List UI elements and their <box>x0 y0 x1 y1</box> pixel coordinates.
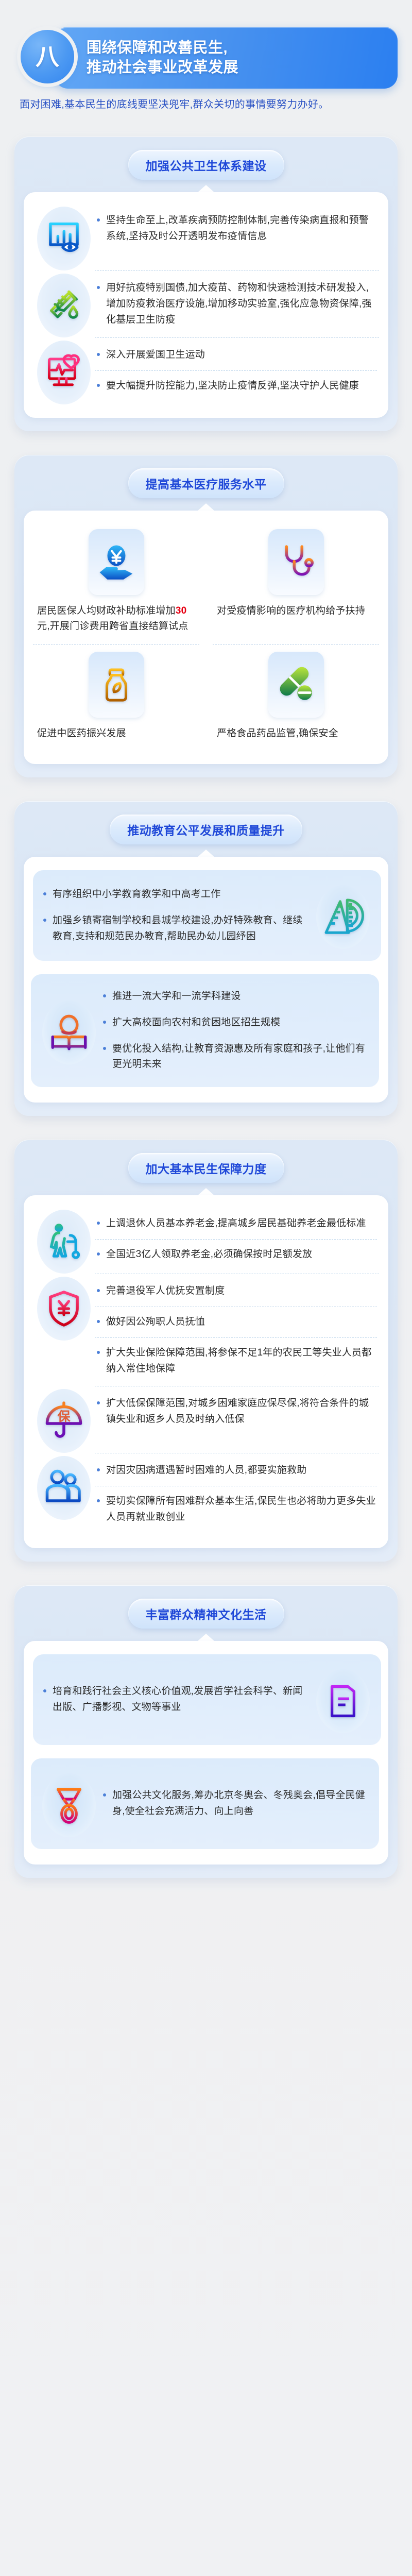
bullet-list: 对因灾因病遭遇暂时困难的人员,都要实施救助要切实保障所有困难群众基本生活,保民生… <box>95 1453 379 1534</box>
bullet-text: 要优化投入结构,让教育资源惠及所有家庭和孩子,让他们有更光明未来 <box>112 1041 371 1073</box>
bullet-list: 培育和践行社会主义核心价值观,发展哲学社会科学、新闻出版、广播影视、文物等事业 <box>40 1679 312 1721</box>
grid-card: 严格食品药品监管,确保安全 <box>213 644 379 751</box>
bullet-item: 用好抗疫特别国债,加大疫苗、药物和快速检测技术研发投入,增加防疫救治医疗设施,增… <box>95 273 377 335</box>
section-title-pill: 加强公共卫生体系建设 <box>128 150 284 180</box>
grid-card: 居民医保人均财政补助标准增加30元,开展门诊费用跨省直接结算试点 <box>33 522 199 644</box>
row-icon-slot <box>33 1274 95 1341</box>
bullet-item: 深入开展爱国卫生运动 <box>95 340 377 370</box>
bullet-list: 完善退役军人优抚安置制度做好因公殉职人员抚恤扩大失业保险保障范围,将参保不足1年… <box>95 1274 379 1386</box>
bullet-item: 加强乡镇寄宿制学校和县城学校建设,办好特殊教育、继续教育,支持和规范民办教育,帮… <box>40 908 312 950</box>
bullet-item: 完善退役军人优抚安置制度 <box>95 1276 377 1307</box>
card-grid: 居民医保人均财政补助标准增加30元,开展门诊费用跨省直接结算试点 对受疫情影响的… <box>33 522 379 751</box>
section-title-pill: 加大基本民生保障力度 <box>128 1153 284 1183</box>
bullet-dot-icon <box>103 1793 106 1797</box>
section-body: 居民医保人均财政补助标准增加30元,开展门诊费用跨省直接结算试点 对受疫情影响的… <box>24 511 388 764</box>
bullet-list: 扩大低保保障范围,对城乡困难家庭应保尽保,将符合条件的城镇失业和返乡人员及时纳入… <box>95 1386 379 1437</box>
section-title-pill: 丰富群众精神文化生活 <box>128 1599 284 1629</box>
content-section: 提高基本医疗服务水平 居民医保人均财政补助标准增加30元,开展门诊费用跨省直接结… <box>14 455 398 777</box>
bullet-dot-icon <box>43 892 46 895</box>
bullet-list: 上调退休人员基本养老金,提高城乡居民基础养老金最低标准全国近3亿人领取养老金,必… <box>95 1207 379 1272</box>
card-text-after: 元,开展门诊费用跨省直接结算试点 <box>37 621 188 632</box>
row-icon-slot <box>33 1207 95 1274</box>
bullet-text: 有序组织中小学教育教学和中高考工作 <box>53 887 220 903</box>
bullet-list: 用好抗疫特别国债,加大疫苗、药物和快速检测技术研发投入,增加防疫救治医疗设施,增… <box>95 270 379 337</box>
bullet-dot-icon <box>97 353 100 356</box>
bullet-dot-icon <box>97 1289 100 1292</box>
list-item: 完善退役军人优抚安置制度做好因公殉职人员抚恤扩大失业保险保障范围,将参保不足1年… <box>33 1274 379 1386</box>
list-item: 上调退休人员基本养老金,提高城乡居民基础养老金最低标准全国近3亿人领取养老金,必… <box>33 1207 379 1274</box>
stethoscope-icon <box>268 529 324 595</box>
pointer-triangle-icon <box>197 850 215 857</box>
bullet-dot-icon <box>97 1499 100 1502</box>
highlight-value: 30 <box>176 605 187 616</box>
grid-card: 对受疫情影响的医疗机构给予扶持 <box>213 522 379 644</box>
two-people-icon <box>37 1456 91 1520</box>
section-title-pill: 提高基本医疗服务水平 <box>128 468 284 498</box>
section-header: 丰富群众精神文化生活 <box>24 1599 388 1629</box>
page-title-line2: 推动社会事业改革发展 <box>87 58 238 77</box>
bullet-text: 用好抗疫特别国债,加大疫苗、药物和快速检测技术研发投入,增加防疫救治医疗设施,增… <box>106 280 376 328</box>
book-document-icon <box>316 1669 370 1733</box>
bullet-item: 培育和践行社会主义核心价值观,发展哲学社会科学、新闻出版、广播影视、文物等事业 <box>40 1679 312 1721</box>
syringe-vaccine-icon <box>37 274 91 337</box>
list-item: 坚持生命至上,改革疾病预防控制体制,完善传染病直报和预警系统,坚持及时公开透明发… <box>33 204 379 270</box>
info-panel: 有序组织中小学教育教学和中高考工作加强乡镇寄宿制学校和县城学校建设,办好特殊教育… <box>33 870 381 961</box>
bullet-item: 要大幅提升防控能力,坚决防止疫情反弹,坚决守护人民健康 <box>95 370 377 401</box>
bullet-item: 推进一流大学和一流学科建设 <box>100 984 372 1010</box>
bullet-text: 加强乡镇寄宿制学校和县城学校建设,办好特殊教育、继续教育,支持和规范民办教育,帮… <box>53 913 311 945</box>
page-title-line1: 围绕保障和改善民生, <box>87 38 238 58</box>
bullet-dot-icon <box>43 919 46 922</box>
report-monitor-eye-icon <box>37 207 91 270</box>
page-title: 围绕保障和改善民生, 推动社会事业改革发展 <box>87 38 238 78</box>
row-icon-slot: 保 <box>33 1386 95 1453</box>
ruler-protractor-icon <box>316 885 370 949</box>
elderly-walker-icon <box>37 1210 91 1274</box>
bullet-dot-icon <box>103 1021 106 1024</box>
section-body: 坚持生命至上,改革疾病预防控制体制,完善传染病直报和预警系统,坚持及时公开透明发… <box>24 192 388 418</box>
infographic-page: 围绕保障和改善民生, 推动社会事业改革发展 八 面对困难,基本民生的底线要坚决兜… <box>0 0 412 2576</box>
bullet-text: 推进一流大学和一流学科建设 <box>112 989 241 1005</box>
pointer-triangle-icon <box>197 185 215 193</box>
section-header: 推动教育公平发展和质量提升 <box>24 815 388 844</box>
bullet-item: 加强公共文化服务,筹办北京冬奥会、冬残奥会,倡导全民健身,使全社会充满活力、向上… <box>100 1783 372 1825</box>
medal-icon <box>42 1773 96 1837</box>
bullet-dot-icon <box>97 1320 100 1323</box>
bullet-item: 上调退休人员基本养老金,提高城乡居民基础养老金最低标准 <box>95 1209 377 1239</box>
bullet-list: 加强公共文化服务,筹办北京冬奥会、冬残奥会,倡导全民健身,使全社会充满活力、向上… <box>100 1783 372 1825</box>
bullet-text: 完善退役军人优抚安置制度 <box>106 1283 225 1299</box>
bullet-item: 有序组织中小学教育教学和中高考工作 <box>40 882 312 908</box>
card-icon-slot <box>36 529 196 595</box>
umbrella-bao-icon: 保 <box>37 1389 91 1453</box>
panel-icon-slot <box>38 1768 100 1840</box>
card-icon-slot <box>216 529 376 595</box>
row-icon-slot <box>33 337 95 404</box>
header-banner: 围绕保障和改善民生, 推动社会事业改革发展 <box>55 27 398 89</box>
list-item: 保扩大低保保障范围,对城乡困难家庭应保尽保,将符合条件的城镇失业和返乡人员及时纳… <box>33 1386 379 1453</box>
bullet-text: 要大幅提升防控能力,坚决防止疫情反弹,坚决守护人民健康 <box>106 378 359 394</box>
bullet-dot-icon <box>103 994 106 997</box>
list-item: 对因灾因病遭遇暂时困难的人员,都要实施救助要切实保障所有困难群众基本生活,保民生… <box>33 1453 379 1534</box>
info-panel: 加强公共文化服务,筹办北京冬奥会、冬残奥会,倡导全民健身,使全社会充满活力、向上… <box>31 1758 379 1849</box>
content-section: 推动教育公平发展和质量提升有序组织中小学教育教学和中高考工作加强乡镇寄宿制学校和… <box>14 801 398 1116</box>
list-item: 深入开展爱国卫生运动要大幅提升防控能力,坚决防止疫情反弹,坚决守护人民健康 <box>33 337 379 404</box>
section-body: 培育和践行社会主义核心价值观,发展哲学社会科学、新闻出版、广播影视、文物等事业 … <box>24 1641 388 1865</box>
row-icon-slot <box>33 270 95 337</box>
panel-spacer <box>33 1747 379 1756</box>
bullet-item: 做好因公殉职人员抚恤 <box>95 1307 377 1337</box>
card-text: 严格食品药品监管,确保安全 <box>217 728 338 739</box>
bullet-list: 有序组织中小学教育教学和中高考工作加强乡镇寄宿制学校和县城学校建设,办好特殊教育… <box>40 882 312 950</box>
card-label: 促进中医药振兴发展 <box>36 726 196 741</box>
sections-container: 加强公共卫生体系建设 坚持生命至上,改革疾病预防控制体制,完善传染病直报和预警系… <box>0 137 412 1878</box>
pointer-triangle-icon <box>197 503 215 511</box>
bullet-text: 坚持生命至上,改革疾病预防控制体制,完善传染病直报和预警系统,坚持及时公开透明发… <box>106 213 376 245</box>
section-header: 加大基本民生保障力度 <box>24 1153 388 1183</box>
bullet-text: 扩大低保保障范围,对城乡困难家庭应保尽保,将符合条件的城镇失业和返乡人员及时纳入… <box>106 1396 376 1428</box>
panel-icon-slot <box>312 879 374 952</box>
card-label: 居民医保人均财政补助标准增加30元,开展门诊费用跨省直接结算试点 <box>36 603 196 635</box>
pointer-triangle-icon <box>197 1188 215 1196</box>
panel-icon-slot <box>38 995 100 1067</box>
section-body: 上调退休人员基本养老金,提高城乡居民基础养老金最低标准全国近3亿人领取养老金,必… <box>24 1195 388 1548</box>
heartbeat-monitor-icon <box>37 341 91 404</box>
bullet-text: 要切实保障所有困难群众基本生活,保民生也必将助力更多失业人员再就业敢创业 <box>106 1494 376 1526</box>
section-body: 有序组织中小学教育教学和中高考工作加强乡镇寄宿制学校和县城学校建设,办好特殊教育… <box>24 857 388 1103</box>
student-reading-book-icon <box>42 1001 96 1064</box>
bullet-item: 扩大低保保障范围,对城乡困难家庭应保尽保,将符合条件的城镇失业和返乡人员及时纳入… <box>95 1388 377 1435</box>
bullet-dot-icon <box>97 384 100 387</box>
bullet-item: 要切实保障所有困难群众基本生活,保民生也必将助力更多失业人员再就业敢创业 <box>95 1486 377 1533</box>
info-panel: 推进一流大学和一流学科建设扩大高校面向农村和贫困地区招生规模要优化投入结构,让教… <box>31 974 379 1087</box>
bullet-item: 全国近3亿人领取养老金,必须确保按时足额发放 <box>95 1239 377 1270</box>
bullet-dot-icon <box>97 1468 100 1471</box>
bullet-dot-icon <box>97 218 100 222</box>
grid-card: 促进中医药振兴发展 <box>33 644 199 751</box>
bullet-item: 坚持生命至上,改革疾病预防控制体制,完善传染病直报和预警系统,坚持及时公开透明发… <box>95 206 377 252</box>
card-icon-slot <box>216 652 376 718</box>
bullet-list: 推进一流大学和一流学科建设扩大高校面向农村和贫困地区招生规模要优化投入结构,让教… <box>100 984 372 1078</box>
content-section: 加大基本民生保障力度 上调退休人员基本养老金,提高城乡居民基础养老金最低标准全国… <box>14 1140 398 1561</box>
section-title-pill: 推动教育公平发展和质量提升 <box>110 815 302 844</box>
content-section: 丰富群众精神文化生活培育和践行社会主义核心价值观,发展哲学社会科学、新闻出版、广… <box>14 1585 398 1878</box>
card-label: 对受疫情影响的医疗机构给予扶持 <box>216 603 376 619</box>
card-text: 促进中医药振兴发展 <box>37 728 126 739</box>
pointer-triangle-icon <box>197 1634 215 1641</box>
bullet-dot-icon <box>97 1401 100 1404</box>
row-icon-slot <box>33 204 95 270</box>
section-header: 提高基本医疗服务水平 <box>24 468 388 498</box>
panel-spacer <box>33 963 379 972</box>
bullet-item: 要优化投入结构,让教育资源惠及所有家庭和孩子,让他们有更光明未来 <box>100 1036 372 1078</box>
bullet-text: 对因灾因病遭遇暂时困难的人员,都要实施救助 <box>106 1463 306 1479</box>
bullet-item: 扩大失业保险保障范围,将参保不足1年的农民工等失业人员都纳入常住地保障 <box>95 1337 377 1384</box>
bullet-text: 全国近3亿人领取养老金,必须确保按时足额发放 <box>106 1247 312 1263</box>
panel-icon-slot <box>312 1664 374 1736</box>
bullet-item: 对因灾因病遭遇暂时困难的人员,都要实施救助 <box>95 1455 377 1486</box>
bullet-text: 深入开展爱国卫生运动 <box>106 347 205 363</box>
bullet-text: 扩大高校面向农村和贫困地区招生规模 <box>112 1015 280 1031</box>
bullet-text: 培育和践行社会主义核心价值观,发展哲学社会科学、新闻出版、广播影视、文物等事业 <box>53 1684 311 1716</box>
section-number-badge-label: 八 <box>36 45 59 69</box>
row-icon-slot <box>33 1453 95 1520</box>
content-section: 加强公共卫生体系建设 坚持生命至上,改革疾病预防控制体制,完善传染病直报和预警系… <box>14 137 398 431</box>
capsule-pill-icon <box>268 652 324 718</box>
bullet-dot-icon <box>97 286 100 289</box>
bullet-dot-icon <box>97 1222 100 1225</box>
hand-yuan-subsidy-icon <box>89 529 144 595</box>
bullet-text: 做好因公殉职人员抚恤 <box>106 1314 205 1330</box>
svg-text:保: 保 <box>57 1409 71 1424</box>
bullet-list: 坚持生命至上,改革疾病预防控制体制,完善传染病直报和预警系统,坚持及时公开透明发… <box>95 204 379 254</box>
bullet-list: 深入开展爱国卫生运动要大幅提升防控能力,坚决防止疫情反弹,坚决守护人民健康 <box>95 337 379 403</box>
intro-paragraph: 面对困难,基本民生的底线要坚决兜牢,群众关切的事情要努力办好。 <box>20 97 398 113</box>
shield-yuan-icon <box>37 1277 91 1341</box>
card-text: 对受疫情影响的医疗机构给予扶持 <box>217 605 365 616</box>
card-text-before: 居民医保人均财政补助标准增加 <box>37 605 176 616</box>
info-panel: 培育和践行社会主义核心价值观,发展哲学社会科学、新闻出版、广播影视、文物等事业 <box>33 1654 381 1745</box>
bullet-text: 扩大失业保险保障范围,将参保不足1年的农民工等失业人员都纳入常住地保障 <box>106 1345 376 1377</box>
section-header: 加强公共卫生体系建设 <box>24 150 388 180</box>
section-number-badge: 八 <box>21 30 74 83</box>
herbal-medicine-bottle-icon <box>89 652 144 718</box>
bullet-dot-icon <box>43 1689 46 1692</box>
card-icon-slot <box>36 652 196 718</box>
bullet-dot-icon <box>103 1047 106 1050</box>
bullet-item: 扩大高校面向农村和贫困地区招生规模 <box>100 1010 372 1036</box>
card-label: 严格食品药品监管,确保安全 <box>216 726 376 741</box>
bullet-text: 加强公共文化服务,筹办北京冬奥会、冬残奥会,倡导全民健身,使全社会充满活力、向上… <box>112 1788 371 1820</box>
list-item: 用好抗疫特别国债,加大疫苗、药物和快速检测技术研发投入,增加防疫救治医疗设施,增… <box>33 270 379 337</box>
bullet-dot-icon <box>97 1252 100 1256</box>
bullet-dot-icon <box>97 1351 100 1354</box>
page-header: 围绕保障和改善民生, 推动社会事业改革发展 八 <box>0 15 412 83</box>
bullet-text: 上调退休人员基本养老金,提高城乡居民基础养老金最低标准 <box>106 1216 366 1232</box>
